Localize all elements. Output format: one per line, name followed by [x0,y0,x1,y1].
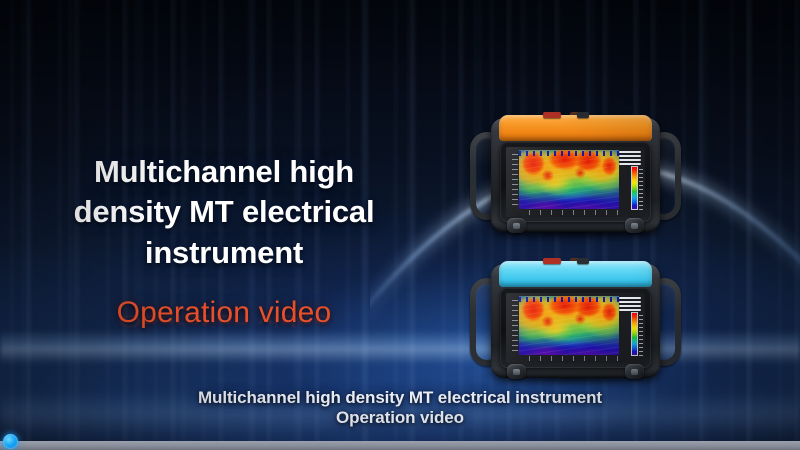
background-vignette [0,0,800,450]
video-progress-bar[interactable] [0,441,800,450]
video-playhead[interactable] [3,434,18,449]
video-slide: Multichannel high density MT electrical … [0,0,800,450]
